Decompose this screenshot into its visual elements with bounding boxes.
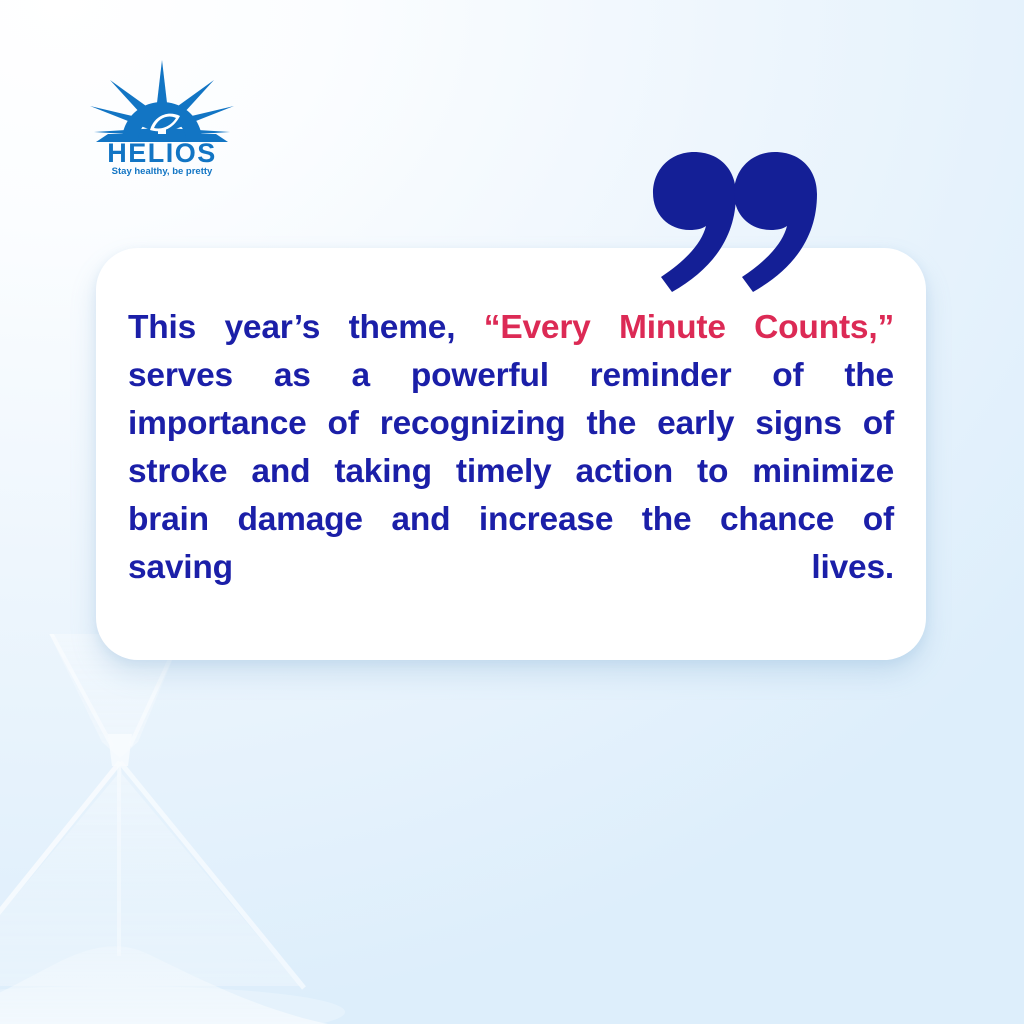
quote-theme: “Every Minute Counts,”	[484, 309, 894, 346]
quote-card: This year’s theme, “Every Minute Counts,…	[96, 248, 926, 660]
sun-starburst-icon	[90, 60, 234, 142]
poster-canvas: HELIOS Stay healthy, be pretty This year…	[0, 0, 1024, 1024]
quote-lead: This year’s theme,	[128, 309, 455, 346]
quote-rest: serves as a powerful reminder of the imp…	[128, 357, 894, 586]
brand-tagline: Stay healthy, be pretty	[112, 166, 213, 176]
hourglass-icon	[0, 634, 350, 1024]
quote-text: This year’s theme, “Every Minute Counts,…	[128, 304, 894, 640]
closing-double-quote-icon	[648, 150, 818, 295]
brand-name: HELIOS	[107, 138, 217, 168]
helios-logo[interactable]: HELIOS Stay healthy, be pretty	[88, 58, 236, 176]
